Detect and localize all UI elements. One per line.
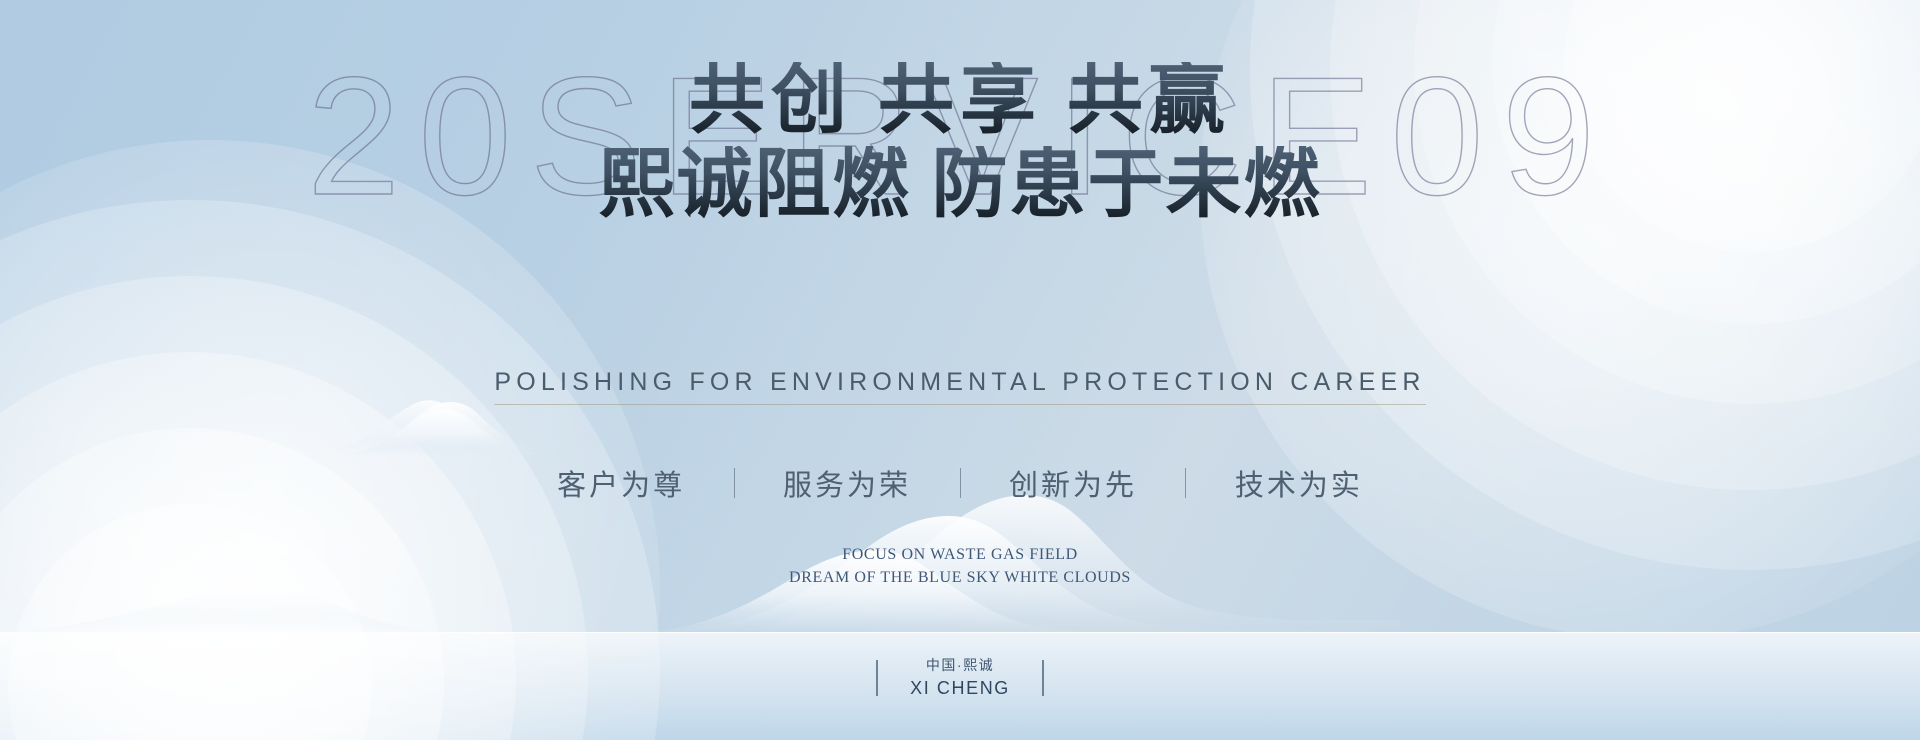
brand-divider-right — [1042, 660, 1044, 696]
brand-text-group: 中国·熙诚 XI CHENG — [910, 655, 1010, 700]
brand-lockup: 中国·熙诚 XI CHENG — [0, 655, 1920, 700]
serif-line-2: DREAM OF THE BLUE SKY WHITE CLOUDS — [0, 566, 1920, 589]
value-separator-1 — [734, 468, 735, 498]
brand-divider-left — [876, 660, 878, 696]
serif-line-1: FOCUS ON WASTE GAS FIELD — [0, 543, 1920, 566]
value-separator-3 — [1185, 468, 1186, 498]
headline-block: 共创 共享 共赢 熙诚阻燃 防患于未燃 — [0, 62, 1920, 226]
value-item-4: 技术为实 — [1235, 462, 1363, 504]
serif-english-block: FOCUS ON WASTE GAS FIELD DREAM OF THE BL… — [0, 543, 1920, 589]
tagline-wrapper: POLISHING FOR ENVIRONMENTAL PROTECTION C… — [0, 368, 1920, 405]
headline-line-2: 熙诚阻燃 防患于未燃 — [0, 146, 1920, 226]
horizon-line — [0, 632, 1920, 633]
brand-name-en: XI CHENG — [910, 676, 1010, 700]
brand-name-cn: 中国·熙诚 — [910, 655, 1010, 676]
value-separator-2 — [960, 468, 961, 498]
banner-stage: 20SERVICE09 共创 共享 共赢 熙诚阻燃 防患于未燃 POLISHIN… — [0, 0, 1920, 740]
value-item-1: 客户为尊 — [557, 462, 685, 504]
value-item-3: 创新为先 — [1009, 462, 1137, 504]
headline-line-1: 共创 共享 共赢 — [0, 62, 1920, 142]
english-tagline: POLISHING FOR ENVIRONMENTAL PROTECTION C… — [494, 368, 1425, 405]
value-item-2: 服务为荣 — [783, 462, 911, 504]
values-row: 客户为尊 服务为荣 创新为先 技术为实 — [0, 462, 1920, 504]
